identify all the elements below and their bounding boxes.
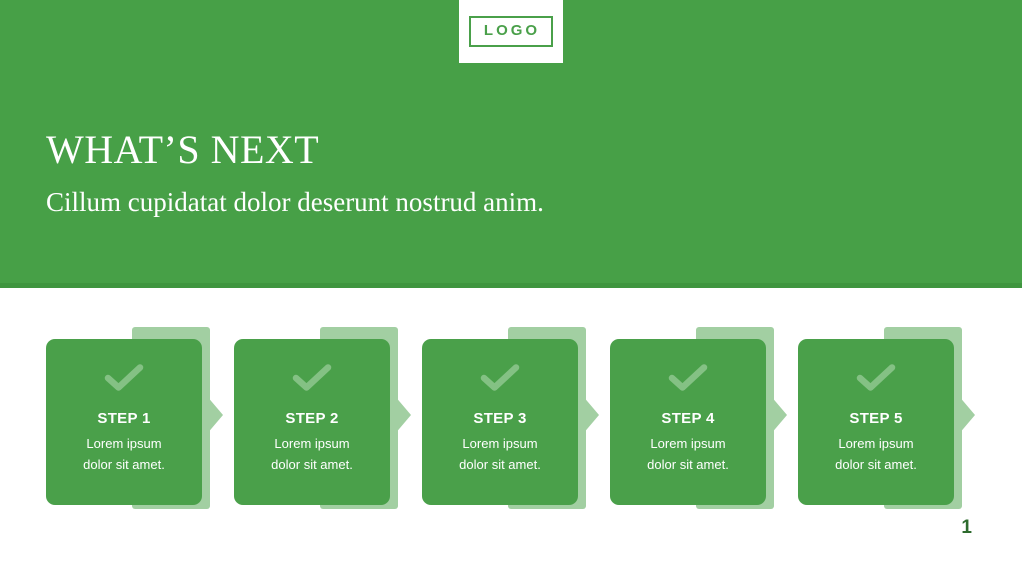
step-title: STEP 5: [849, 411, 902, 426]
arrow-right-icon: [770, 395, 787, 435]
step-description: Lorem ipsum dolor sit amet.: [647, 434, 729, 475]
arrow-right-icon: [958, 395, 975, 435]
step-title: STEP 3: [473, 411, 526, 426]
step-description: Lorem ipsum dolor sit amet.: [83, 434, 165, 475]
step-card-face[interactable]: STEP 3Lorem ipsum dolor sit amet.: [422, 339, 578, 505]
page-number: 1: [961, 518, 972, 537]
step-description: Lorem ipsum dolor sit amet.: [459, 434, 541, 475]
step-title: STEP 2: [285, 411, 338, 426]
step-card-5[interactable]: STEP 5Lorem ipsum dolor sit amet.: [798, 327, 998, 509]
step-card-3[interactable]: STEP 3Lorem ipsum dolor sit amet.: [422, 327, 622, 509]
check-icon: [856, 362, 896, 392]
step-description: Lorem ipsum dolor sit amet.: [271, 434, 353, 475]
arrow-right-icon: [582, 395, 599, 435]
step-card-4[interactable]: STEP 4Lorem ipsum dolor sit amet.: [610, 327, 810, 509]
check-icon: [668, 362, 708, 392]
slide-canvas: LOGO WHAT’S NEXT Cillum cupidatat dolor …: [0, 0, 1022, 575]
step-title: STEP 1: [97, 411, 150, 426]
check-icon: [104, 362, 144, 392]
step-card-2[interactable]: STEP 2Lorem ipsum dolor sit amet.: [234, 327, 434, 509]
steps-container: STEP 1Lorem ipsum dolor sit amet.STEP 2L…: [0, 0, 1022, 575]
step-card-face[interactable]: STEP 4Lorem ipsum dolor sit amet.: [610, 339, 766, 505]
step-card-face[interactable]: STEP 5Lorem ipsum dolor sit amet.: [798, 339, 954, 505]
check-icon: [292, 362, 332, 392]
arrow-right-icon: [206, 395, 223, 435]
step-title: STEP 4: [661, 411, 714, 426]
step-card-1[interactable]: STEP 1Lorem ipsum dolor sit amet.: [46, 327, 246, 509]
step-description: Lorem ipsum dolor sit amet.: [835, 434, 917, 475]
step-card-face[interactable]: STEP 1Lorem ipsum dolor sit amet.: [46, 339, 202, 505]
step-card-face[interactable]: STEP 2Lorem ipsum dolor sit amet.: [234, 339, 390, 505]
check-icon: [480, 362, 520, 392]
arrow-right-icon: [394, 395, 411, 435]
